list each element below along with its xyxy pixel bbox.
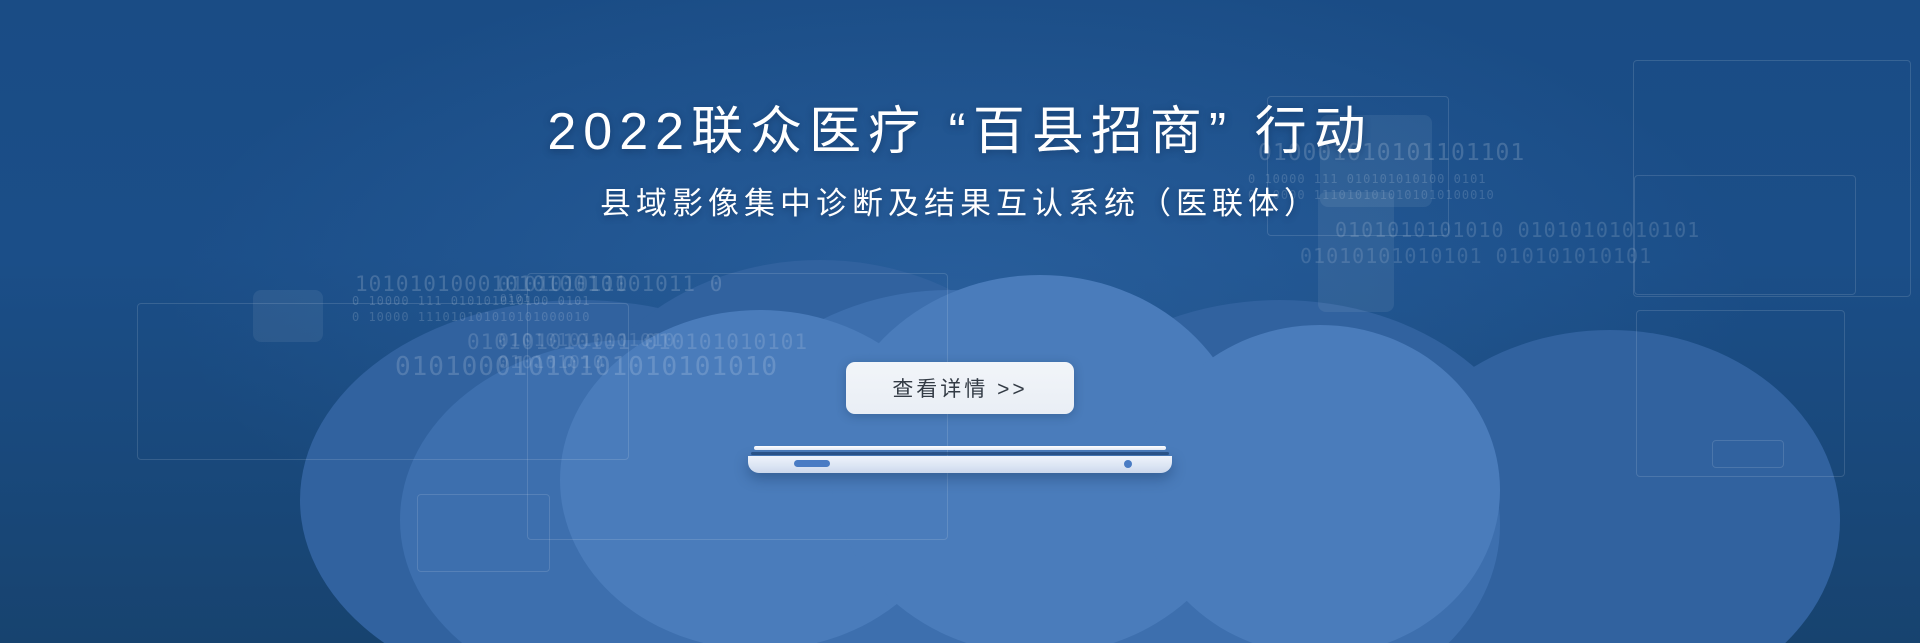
laptop-lid-edge: [754, 446, 1166, 450]
page-subtitle: 县域影像集中诊断及结果互认系统（医联体）: [0, 163, 1920, 222]
laptop-base: [748, 456, 1172, 473]
laptop-device: [748, 446, 1172, 473]
view-details-button[interactable]: 查看详情 >>: [846, 362, 1074, 414]
laptop-dot-indicator: [1124, 460, 1132, 468]
laptop-hinge-gap: [751, 452, 1169, 455]
cta-container: 查看详情 >>: [0, 362, 1920, 414]
promo-banner: 1010101000101010010101011 00 10000 111 0…: [0, 0, 1920, 643]
banner-headings: 2022联众医疗 “百县招商” 行动 县域影像集中诊断及结果互认系统（医联体）: [0, 0, 1920, 222]
page-title: 2022联众医疗 “百县招商” 行动: [0, 0, 1920, 163]
laptop-slot-indicator: [794, 460, 830, 467]
